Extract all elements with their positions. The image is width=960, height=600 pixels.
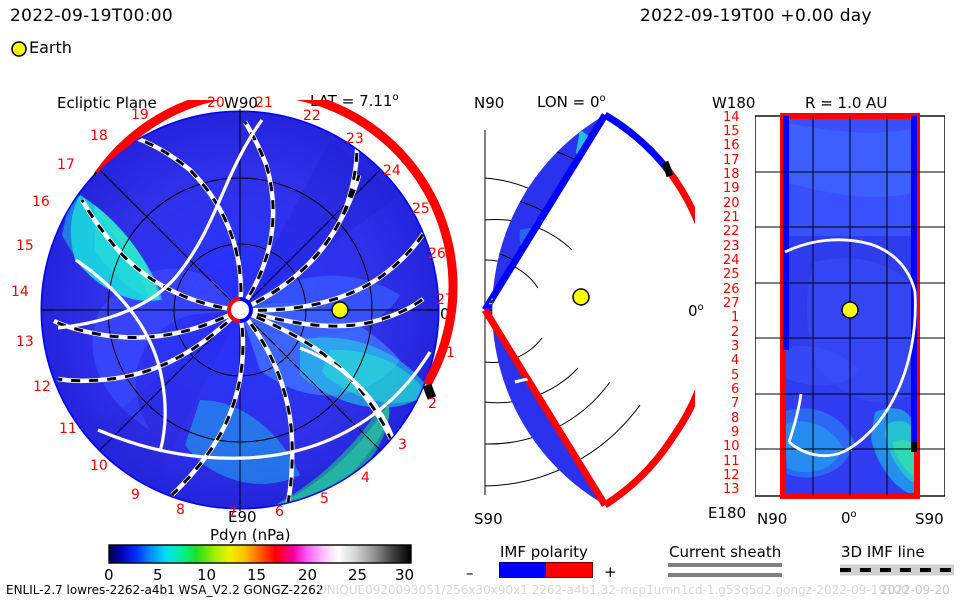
footer-run-id: UNIQUE0920093051/256x30x90x1.2262-a4b1.3… bbox=[318, 583, 909, 597]
map-y-label-25: 12 bbox=[723, 468, 740, 483]
map-y-label-16: 3 bbox=[731, 339, 739, 354]
map-y-label-14: 1 bbox=[731, 310, 739, 325]
map-y-label-18: 5 bbox=[731, 368, 739, 383]
legend-imf-line-swatch bbox=[840, 562, 954, 578]
map-y-label-23: 10 bbox=[723, 439, 740, 454]
legend-polarity-minus: – bbox=[466, 564, 474, 582]
legend-imf-line-title: 3D IMF line bbox=[841, 543, 925, 561]
map-y-labels: 14 15 16 17 18 19 20 21 22 23 24 25 26 2… bbox=[0, 0, 960, 600]
map-y-label-2: 16 bbox=[723, 138, 740, 153]
legend-polarity-plus: + bbox=[604, 563, 617, 581]
map-y-label-0: 14 bbox=[723, 110, 740, 125]
map-y-label-11: 25 bbox=[723, 267, 740, 282]
map-y-label-7: 21 bbox=[723, 210, 740, 225]
map-y-label-24: 11 bbox=[723, 454, 740, 469]
map-y-label-8: 22 bbox=[723, 224, 740, 239]
enlil-solar-wind-visualization: 2022-09-19T00:00 2022-09-19T00 +0.00 day… bbox=[0, 0, 960, 600]
map-y-label-10: 24 bbox=[723, 253, 740, 268]
map-y-label-3: 17 bbox=[723, 153, 740, 168]
legend-polarity-swatch bbox=[499, 562, 593, 578]
legend-current-sheath-title: Current sheath bbox=[669, 543, 781, 561]
map-y-label-22: 9 bbox=[731, 425, 739, 440]
legend-current-sheath-swatch bbox=[668, 562, 782, 578]
map-y-label-13: 27 bbox=[723, 296, 740, 311]
map-y-label-1: 15 bbox=[723, 124, 740, 139]
legend-imf-polarity-title: IMF polarity bbox=[500, 543, 588, 561]
map-y-label-4: 18 bbox=[723, 167, 740, 182]
footer-end-date: 2022-09-20 bbox=[880, 583, 950, 597]
map-y-label-19: 6 bbox=[731, 382, 739, 397]
map-y-label-15: 2 bbox=[731, 325, 739, 340]
map-y-label-12: 26 bbox=[723, 282, 740, 297]
map-y-label-9: 23 bbox=[723, 239, 740, 254]
footer-model-info: ENLIL-2.7 lowres-2262-a4b1 WSA_V2.2 GONG… bbox=[6, 583, 323, 597]
map-y-label-21: 8 bbox=[731, 411, 739, 426]
map-y-label-26: 13 bbox=[723, 482, 740, 497]
map-y-label-5: 19 bbox=[723, 181, 740, 196]
map-y-label-20: 7 bbox=[731, 396, 739, 411]
map-y-label-17: 4 bbox=[731, 353, 739, 368]
map-y-label-6: 20 bbox=[723, 196, 740, 211]
